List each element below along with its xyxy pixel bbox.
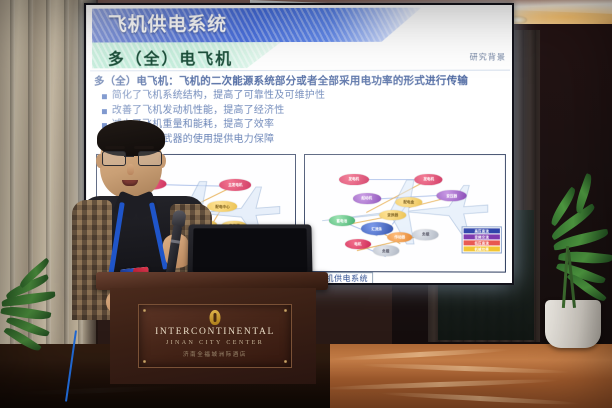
bullet-square-icon (102, 109, 107, 114)
slide-title: 飞机供电系统 (108, 9, 227, 36)
slide-subtitle: 多（全）电飞机 (108, 45, 233, 69)
diagram-node: 发电机 (415, 174, 443, 186)
venue-name-cn: 济南全福城洲际酒店 (139, 350, 291, 358)
slide-divider (90, 70, 510, 72)
diagram-node: 起动机 (353, 193, 381, 203)
figure-legend: 高压直流变频交流低压直流机械功率 (462, 226, 502, 253)
intercontinental-logo-icon (210, 310, 221, 325)
diagram-node: 配电中心 (208, 201, 238, 211)
venue-name: INTERCONTINENTAL (139, 327, 291, 337)
laptop-lid (187, 224, 312, 278)
legend-row: 变频交流 (464, 234, 500, 239)
slide-section-tag: 研究背景 (470, 52, 506, 63)
screenshot-root: 飞机供电系统 多（全）电飞机 研究背景 多（全）电飞机：飞机的二次能源系统部分或… (0, 0, 612, 408)
venue-subtitle: JINAN CITY CENTER (139, 340, 291, 346)
diagram-node: 负载 (413, 229, 439, 240)
eyeglasses (102, 151, 160, 164)
legend-row: 机械功率 (464, 246, 500, 251)
palm-plant-right (524, 176, 612, 306)
legend-row: 高压直流 (464, 228, 500, 233)
bullet-square-icon (102, 94, 107, 99)
diagram-node: 汇流条 (361, 222, 393, 235)
diagram-node: 蓄电池 (329, 215, 355, 225)
conference-room: 飞机供电系统 多（全）电飞机 研究背景 多（全）电飞机：飞机的二次能源系统部分或… (0, 0, 612, 408)
diagram-node: 发电机 (339, 174, 369, 186)
bullet-text: 改善了飞机发动机性能，提高了经济性 (112, 104, 285, 119)
diagram-node: 主发电机 (220, 179, 252, 191)
diagram-node: 作动器 (387, 232, 413, 243)
nose (127, 164, 134, 175)
lectern: INTERCONTINENTAL JINAN CITY CENTER 济南全福城… (96, 272, 328, 384)
list-item: 简化了飞机系统结构，提高了可靠性及可维护性 (102, 89, 506, 104)
slide-lead-text: 多（全）电飞机：飞机的二次能源系统部分或者全部采用电功率的形式进行传输 (94, 74, 506, 89)
diagram-node: 电机 (345, 239, 371, 250)
diagram-node: 负载 (373, 246, 399, 257)
laptop-screen-back (193, 228, 308, 272)
list-item: 改善了飞机发动机性能，提高了经济性 (102, 103, 506, 118)
bullet-text: 简化了飞机系统结构，提高了可靠性及可维护性 (112, 89, 325, 104)
eyebrow-left (105, 146, 125, 149)
eyebrow-right (134, 146, 154, 149)
diagram-node: 变换器 (379, 210, 407, 221)
legend-row: 低压直流 (464, 240, 500, 245)
venue-plaque: INTERCONTINENTAL JINAN CITY CENTER 济南全福城… (138, 304, 292, 368)
figure-more-electric-power-system: 高压直流变频交流低压直流机械功率 发电机发电机起动机变压器配电盒变换器蓄电池汇流… (304, 154, 506, 273)
